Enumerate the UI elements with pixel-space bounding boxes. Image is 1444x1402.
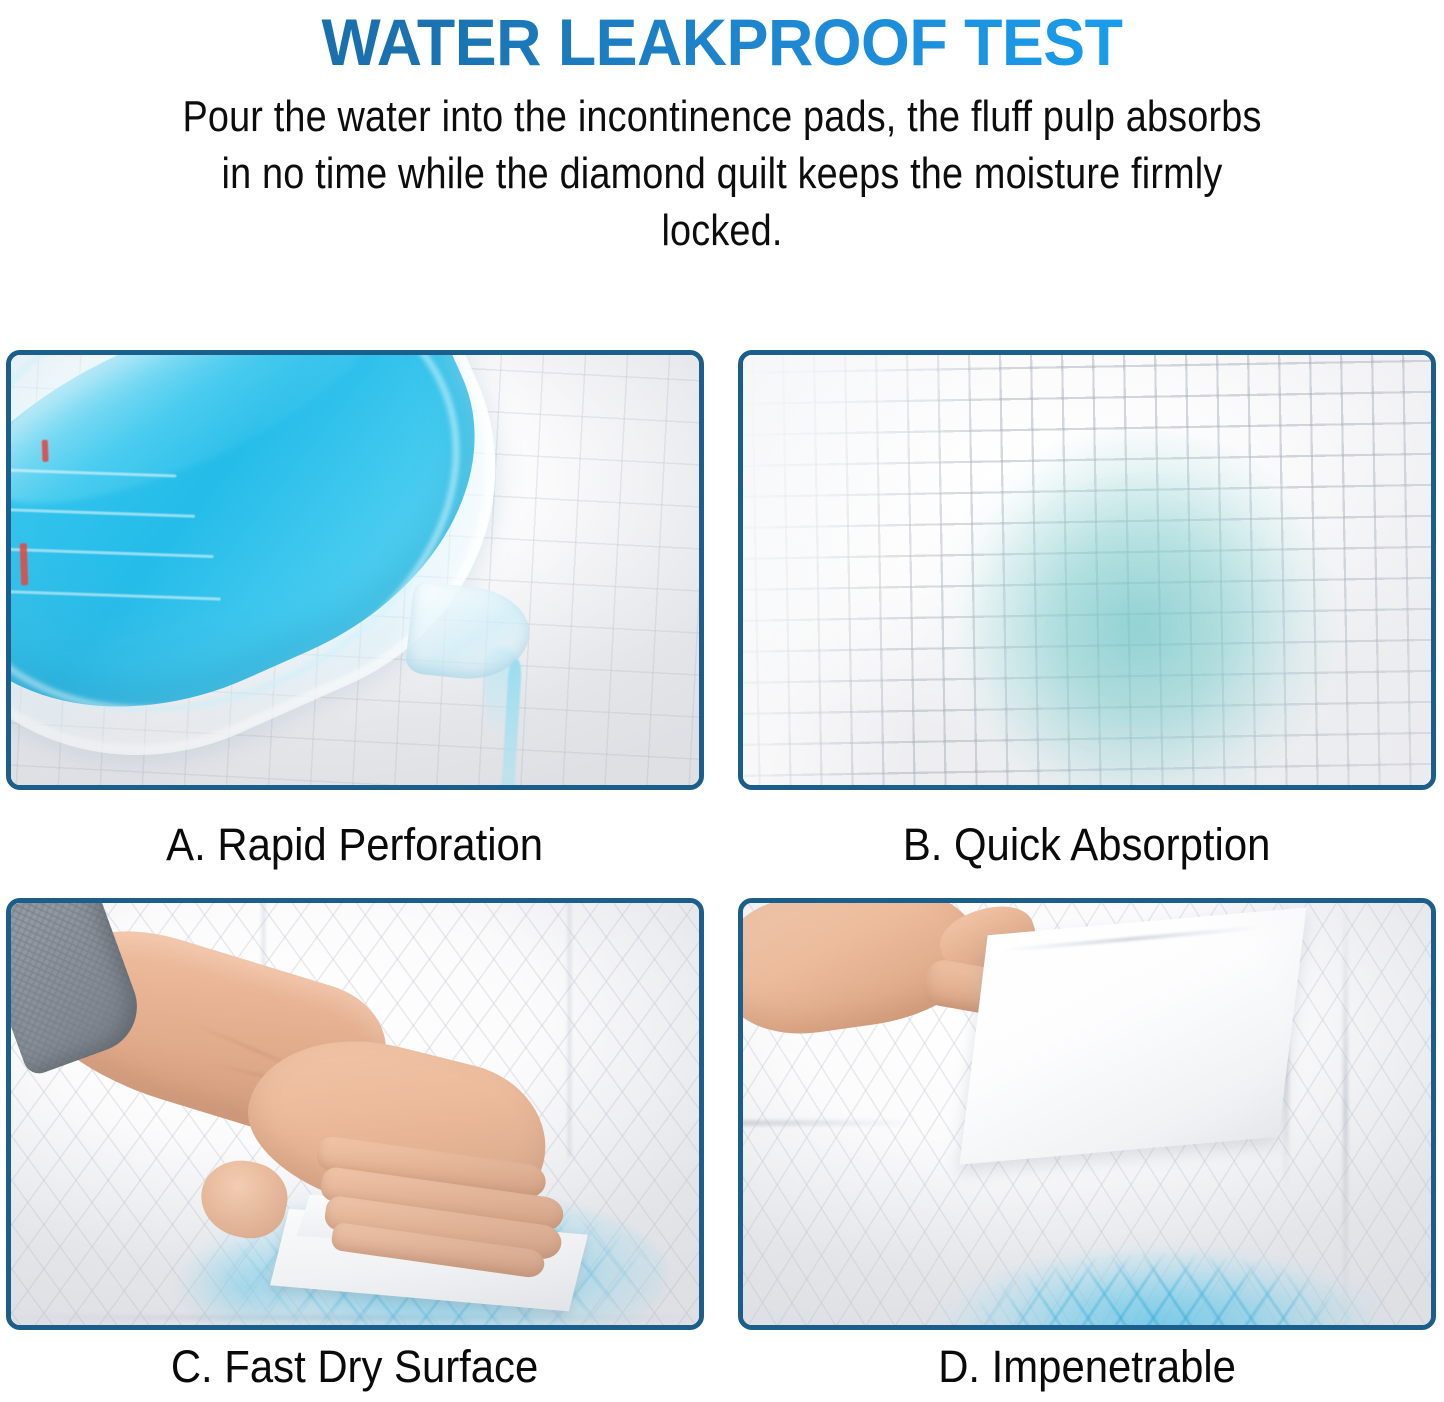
header: WATER LEAKPROOF TEST Pour the water into… [0,0,1444,259]
panel-b-quick-absorption[interactable] [738,350,1436,790]
panel-cell-a [6,350,704,790]
caption-cell-a: A. Rapid Perforation [6,790,704,898]
panel-cell-b [738,350,1436,790]
panel-cell-c [6,898,704,1330]
page-subtitle: Pour the water into the incontinence pad… [163,88,1281,259]
caption-c: C. Fast Dry Surface [171,1344,538,1389]
panel-c-fast-dry-surface[interactable] [6,898,704,1330]
caption-b: B. Quick Absorption [903,822,1271,867]
caption-a: A. Rapid Perforation [167,822,544,867]
caption-cell-d: D. Impenetrable [738,1330,1436,1402]
caption-cell-b: B. Quick Absorption [738,790,1436,898]
panel-d-impenetrable[interactable] [738,898,1436,1330]
caption-cell-c: C. Fast Dry Surface [6,1330,704,1402]
test-panel-grid: A. Rapid Perforation B. Quick Absorption [6,350,1438,1402]
caption-d: D. Impenetrable [938,1344,1236,1389]
photo-absorbed-spot [743,355,1431,785]
panel-cell-d [738,898,1436,1330]
photo-hand-pressing-tissue [11,903,699,1325]
photo-pouring-water [11,355,699,785]
page-title: WATER LEAKPROOF TEST [36,4,1408,80]
photo-dry-tissue-over-pad [743,903,1431,1325]
panel-a-rapid-perforation[interactable] [6,350,704,790]
